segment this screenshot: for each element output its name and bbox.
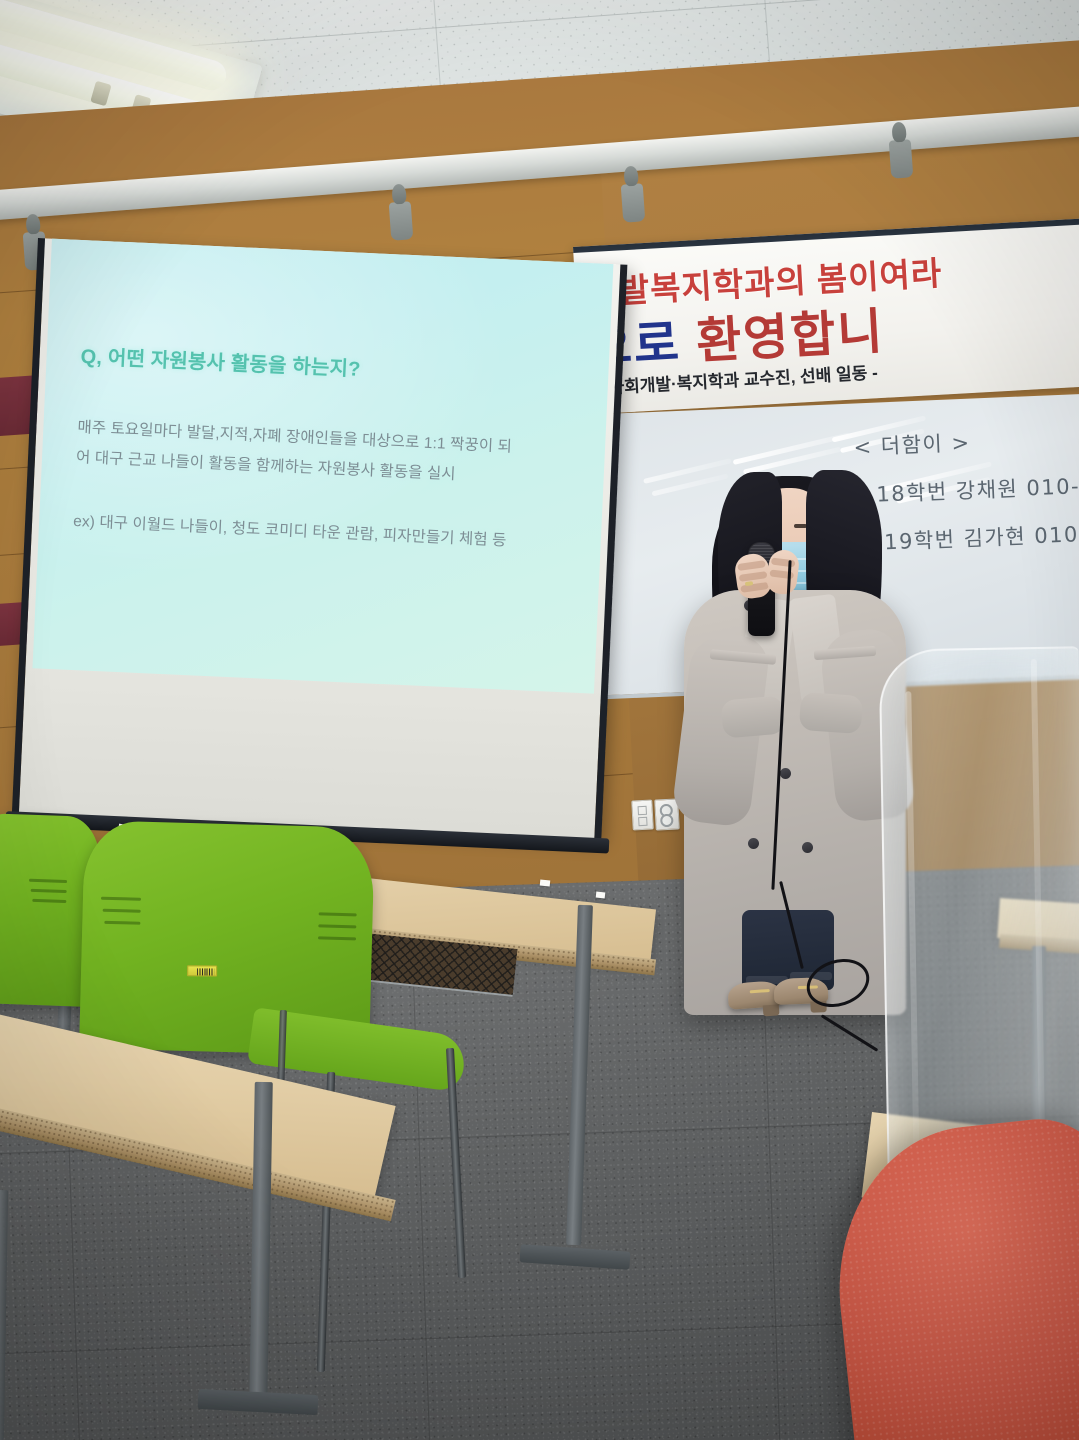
coat-cuff-right <box>799 692 863 734</box>
screen-mount-bracket <box>889 139 914 178</box>
slide-title: Q, 어떤 자원봉사 활동을 하는지? <box>80 340 585 392</box>
coat-cuff-left <box>720 695 785 738</box>
chair-vent-slot <box>319 912 357 916</box>
projected-slide: Q, 어떤 자원봉사 활동을 하는지? 매주 토요일마다 발달,지적,자폐 장애… <box>32 239 613 694</box>
finger <box>771 558 796 568</box>
chair-vent-slot <box>104 921 140 925</box>
screen-mount-bracket <box>621 183 646 222</box>
data-port-plate[interactable] <box>631 799 654 830</box>
coat-button <box>802 842 813 853</box>
coat-button <box>748 838 759 849</box>
screen-surface: Q, 어떤 자원봉사 활동을 하는지? 매주 토요일마다 발달,지적,자폐 장애… <box>12 238 627 839</box>
presenter <box>690 470 900 1040</box>
chair-vent-slot <box>29 879 67 883</box>
shoe-heel <box>763 1004 780 1016</box>
paper-scrap <box>540 879 551 886</box>
paper-scrap <box>596 892 606 899</box>
chair-vent-slot <box>32 899 66 903</box>
data-port-icon <box>638 817 647 826</box>
finger <box>739 571 768 582</box>
power-socket <box>660 814 674 828</box>
chair-vent-slot <box>318 936 356 940</box>
data-port-icon <box>638 806 647 815</box>
chair-asset-label <box>187 965 217 976</box>
shoe-hardware <box>750 989 770 993</box>
chair-vent-slot <box>318 924 356 928</box>
finger <box>737 560 766 571</box>
chair-vent-slot <box>103 909 141 913</box>
classroom-photo: 개발복지학과의 봄이여라 으로 환영합니 역사회개발·복지학과 교수진, 선배 … <box>0 0 1079 1440</box>
chair-vent-slot <box>101 897 141 901</box>
welcome-banner: 개발복지학과의 봄이여라 으로 환영합니 역사회개발·복지학과 교수진, 선배 … <box>573 217 1079 414</box>
chair-vent-slot <box>31 889 67 893</box>
whiteboard-line-1: < 더함이 > <box>853 427 971 462</box>
coat-button <box>780 768 791 779</box>
screen-mount-bracket <box>389 201 414 240</box>
projection-screen: Q, 어떤 자원봉사 활동을 하는지? 매주 토요일마다 발달,지적,자폐 장애… <box>12 238 627 839</box>
